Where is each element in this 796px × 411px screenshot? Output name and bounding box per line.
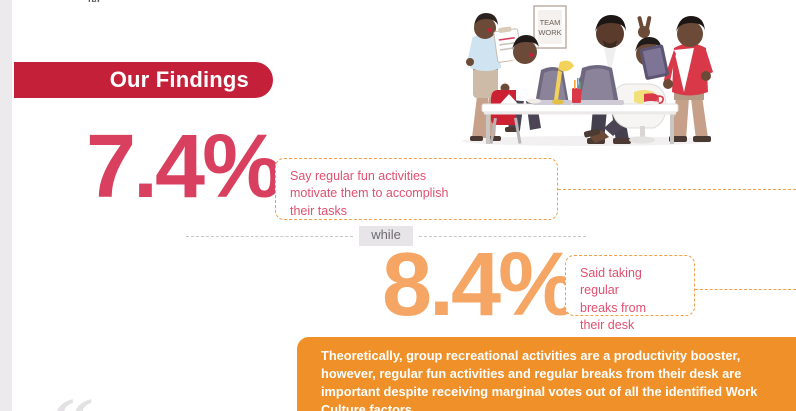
team-work-poster-icon: TEAM WORK: [534, 6, 566, 48]
stat-value-two: 8.4%: [382, 240, 575, 330]
peace-sign-hand-icon: [637, 16, 651, 38]
poster-line-1: TEAM: [540, 18, 561, 27]
infographic-page: ter Our Findings 7.4% Say regular fun ac…: [0, 0, 796, 411]
poster-line-2: WORK: [538, 28, 561, 37]
leader-line-one: [558, 189, 796, 190]
stat-value-one: 7.4%: [86, 122, 279, 212]
stat-callout-one-text: Say regular fun activities motivate them…: [290, 168, 545, 220]
our-findings-banner: Our Findings: [14, 62, 273, 98]
stat-callout-two: Said taking regular breaks from their de…: [565, 255, 695, 316]
while-divider-line-left: [186, 236, 353, 237]
our-findings-label: Our Findings: [110, 67, 249, 93]
top-cut-off-text: ter: [88, 0, 101, 2]
team-illustration: TEAM WORK: [448, 0, 726, 148]
summary-text: Theoretically, group recreational activi…: [321, 347, 774, 411]
leader-line-two: [695, 289, 796, 290]
page-left-margin-strip: [0, 0, 12, 411]
stat-callout-one: Say regular fun activities motivate them…: [275, 158, 558, 220]
stat-callout-two-text: Said taking regular breaks from their de…: [580, 265, 682, 334]
decorative-quote-icon: “: [52, 386, 94, 411]
summary-panel: Theoretically, group recreational activi…: [297, 337, 796, 411]
